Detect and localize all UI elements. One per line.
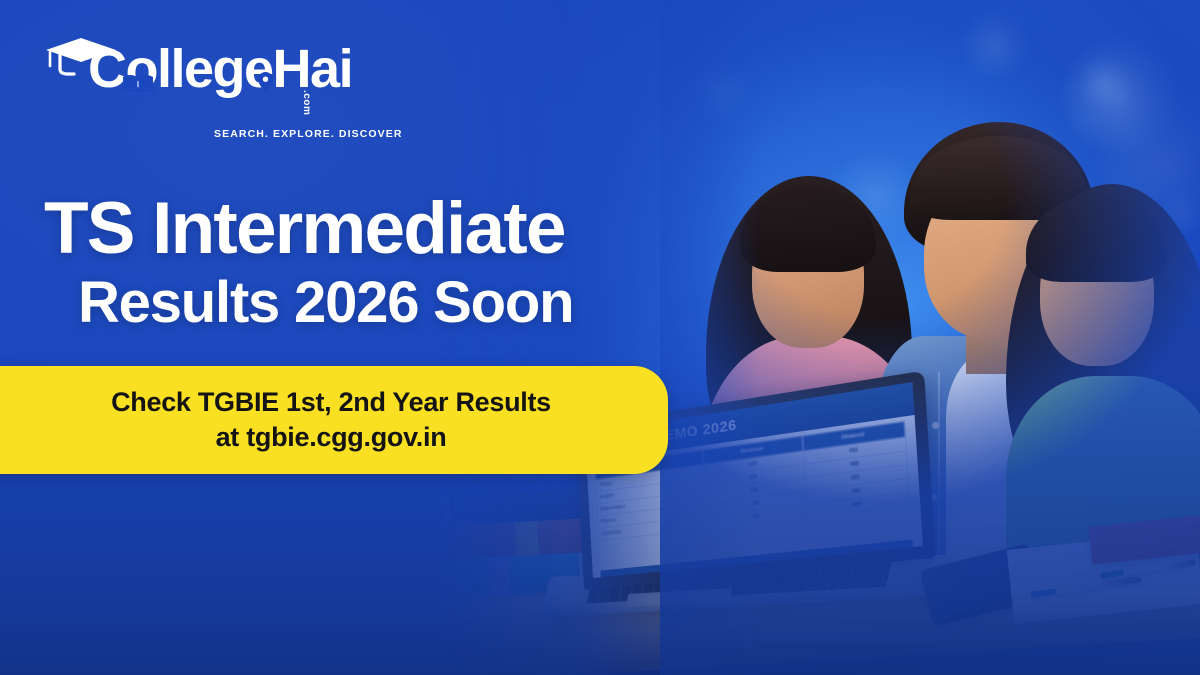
- promo-banner: MARKS MEMO 2026 Subjects Maximum Obtaine…: [0, 0, 1200, 675]
- page-title: TS Intermediate Results 2026 Soon: [44, 192, 764, 334]
- logo-tagline: SEARCH. EXPLORE. DISCOVER: [214, 128, 403, 140]
- location-pin-icon: [258, 72, 273, 92]
- callout-line-1: Check TGBIE 1st, 2nd Year Results: [111, 385, 551, 420]
- callout-banner[interactable]: Check TGBIE 1st, 2nd Year Results at tgb…: [0, 366, 668, 474]
- site-logo[interactable]: CollegeHai .com SEARCH. EXPLORE. DISCOVE…: [36, 36, 326, 114]
- logo-tld: .com: [301, 90, 312, 115]
- callout-line-2: at tgbie.cgg.gov.in: [216, 420, 447, 455]
- headline-line-2: Results 2026 Soon: [78, 272, 764, 333]
- headline-line-1: TS Intermediate: [44, 192, 764, 266]
- open-book-icon: [122, 73, 154, 92]
